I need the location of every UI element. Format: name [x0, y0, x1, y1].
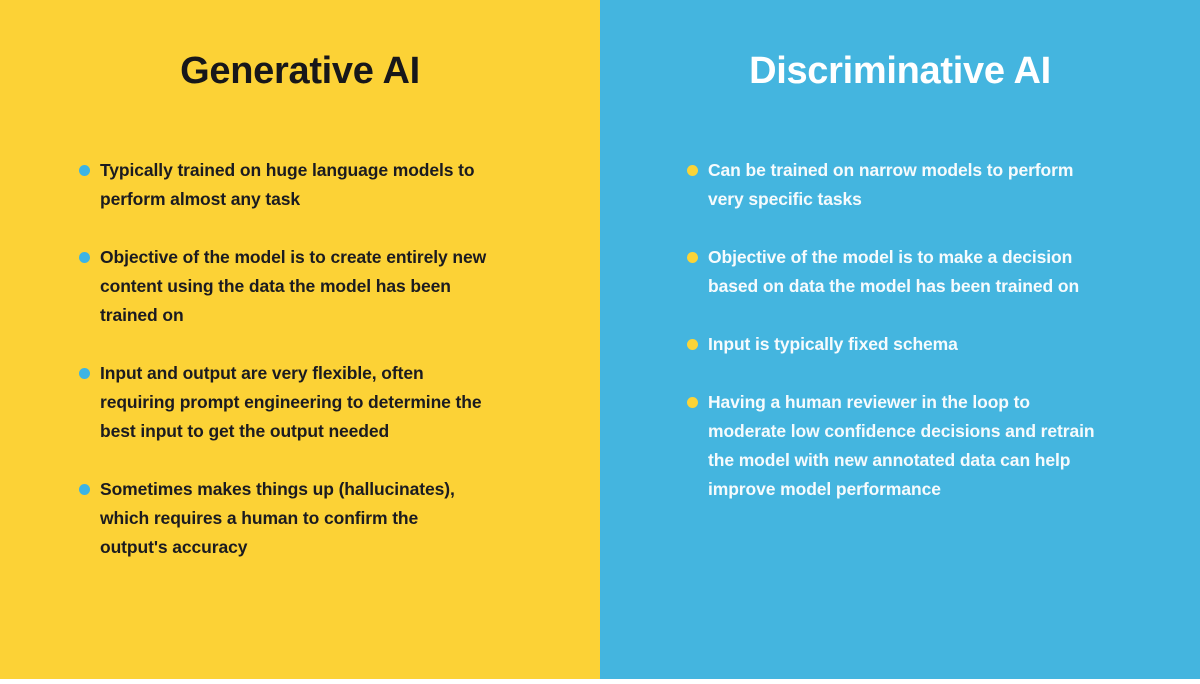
list-item: Sometimes makes things up (hallucinates)… [79, 475, 488, 562]
filled-circle-bullet-icon [687, 397, 698, 408]
discriminative-ai-panel: Discriminative AI Can be trained on narr… [600, 0, 1200, 679]
generative-ai-title: Generative AI [0, 52, 600, 90]
list-item-label: Objective of the model is to create enti… [100, 243, 488, 330]
comparison-infographic: Generative AI Typically trained on huge … [0, 0, 1200, 684]
filled-circle-bullet-icon [79, 252, 90, 263]
filled-circle-bullet-icon [79, 368, 90, 379]
filled-circle-bullet-icon [687, 339, 698, 350]
list-item: Objective of the model is to make a deci… [687, 243, 1105, 301]
filled-circle-bullet-icon [79, 484, 90, 495]
list-item-label: Input is typically fixed schema [708, 330, 1105, 359]
list-item-label: Typically trained on huge language model… [100, 156, 488, 214]
filled-circle-bullet-icon [79, 165, 90, 176]
list-item-label: Can be trained on narrow models to perfo… [708, 156, 1105, 214]
list-item: Input and output are very flexible, ofte… [79, 359, 488, 446]
list-item: Typically trained on huge language model… [79, 156, 488, 214]
generative-ai-panel: Generative AI Typically trained on huge … [0, 0, 600, 679]
generative-ai-bullet-list: Typically trained on huge language model… [0, 156, 600, 562]
bottom-divider [0, 679, 1200, 684]
list-item-label: Sometimes makes things up (hallucinates)… [100, 475, 488, 562]
discriminative-ai-bullet-list: Can be trained on narrow models to perfo… [600, 156, 1200, 504]
list-item-label: Having a human reviewer in the loop to m… [708, 388, 1105, 504]
list-item: Input is typically fixed schema [687, 330, 1105, 359]
list-item-label: Objective of the model is to make a deci… [708, 243, 1105, 301]
filled-circle-bullet-icon [687, 165, 698, 176]
list-item-label: Input and output are very flexible, ofte… [100, 359, 488, 446]
list-item: Objective of the model is to create enti… [79, 243, 488, 330]
filled-circle-bullet-icon [687, 252, 698, 263]
list-item: Having a human reviewer in the loop to m… [687, 388, 1105, 504]
discriminative-ai-title: Discriminative AI [600, 52, 1200, 90]
list-item: Can be trained on narrow models to perfo… [687, 156, 1105, 214]
